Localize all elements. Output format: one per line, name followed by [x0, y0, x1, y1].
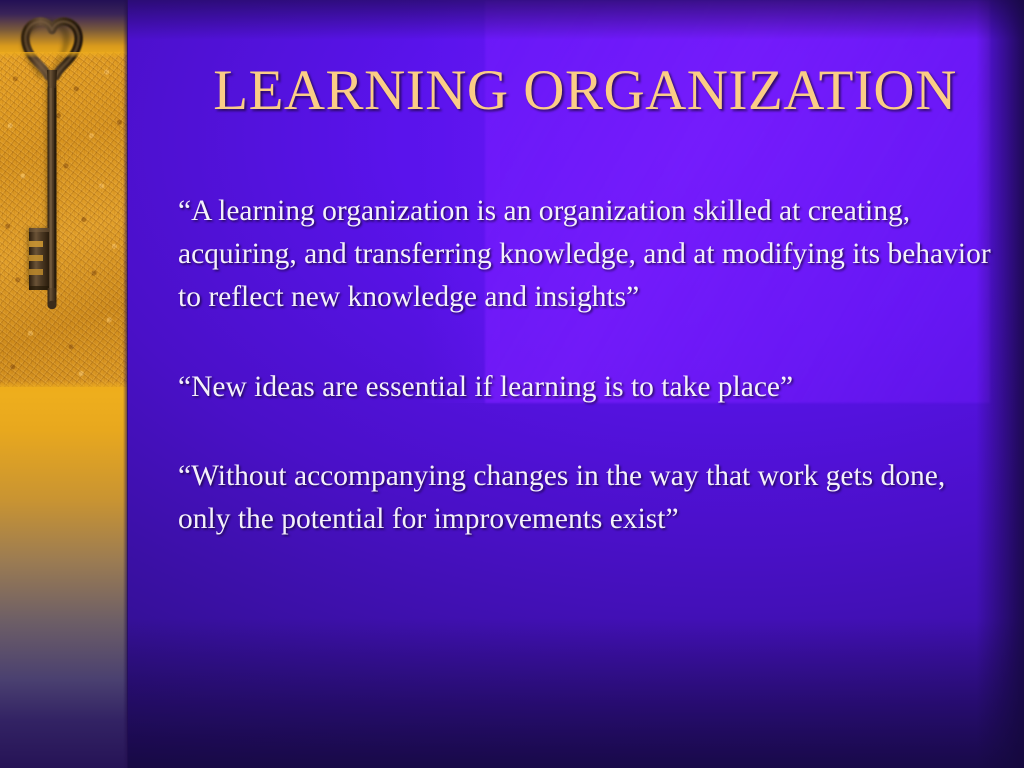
presentation-slide: LEARNING ORGANIZATION “A learning organi… — [0, 0, 1024, 768]
sidebar-gold-band — [0, 0, 127, 768]
sidebar-edge-shadow — [123, 0, 128, 768]
slide-title: LEARNING ORGANIZATION — [150, 62, 1020, 119]
quote-paragraph-1: “A learning organization is an organizat… — [178, 190, 1004, 319]
key-icon — [0, 0, 127, 335]
photo-top-blend — [0, 52, 127, 58]
quote-paragraph-2: “New ideas are essential if learning is … — [178, 366, 1004, 409]
quote-paragraph-3: “Without accompanying changes in the way… — [178, 455, 1004, 541]
photo-bottom-blend — [0, 381, 127, 389]
slide-body: “A learning organization is an organizat… — [178, 190, 1004, 541]
